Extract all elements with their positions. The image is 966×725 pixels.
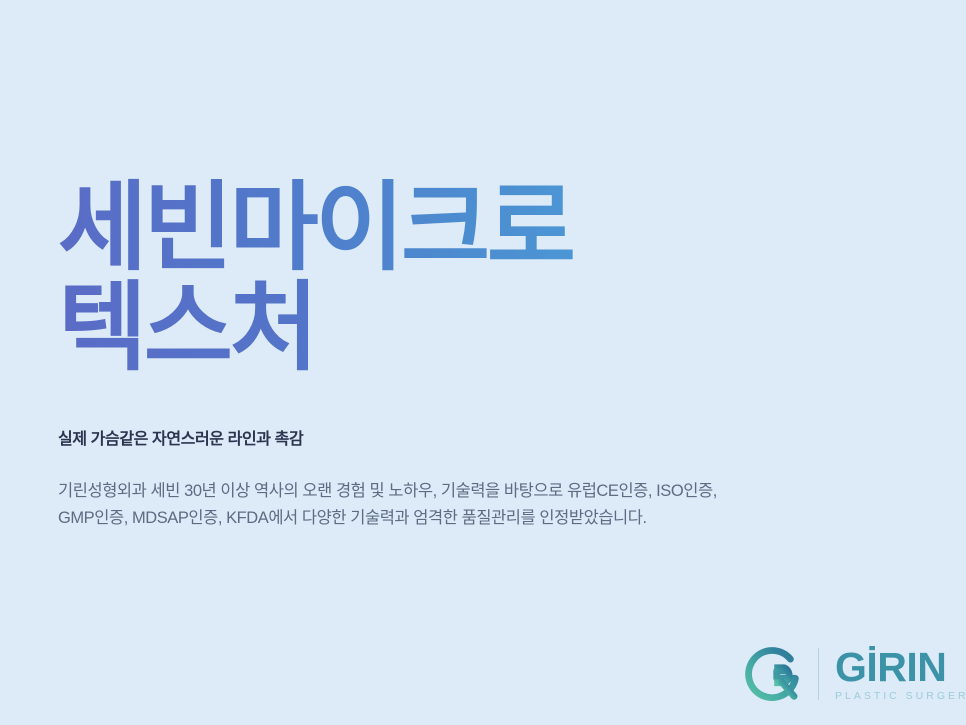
headline-line-1: 세빈마이크로 xyxy=(58,178,798,278)
headline: 세빈마이크로 텍스처 xyxy=(58,178,798,378)
logo-wordmark-group: GİRIN PLASTIC SURGERY xyxy=(835,647,966,702)
logo-divider xyxy=(818,648,819,700)
body-copy: 기린성형외과 세빈 30년 이상 역사의 오랜 경험 및 노하우, 기술력을 바… xyxy=(58,478,818,532)
subtitle: 실제 가슴같은 자연스러운 라인과 촉감 xyxy=(58,425,303,449)
brand-logo: GİRIN PLASTIC SURGERY xyxy=(742,641,966,707)
logo-wordmark: GİRIN xyxy=(835,647,966,687)
gr-monogram-icon xyxy=(742,643,804,705)
logo-tagline: PLASTIC SURGERY xyxy=(835,690,966,702)
headline-line-2: 텍스처 xyxy=(58,278,798,378)
promo-slide: 세빈마이크로 텍스처 실제 가슴같은 자연스러운 라인과 촉감 기린성형외과 세… xyxy=(0,0,966,725)
body-copy-line-1: 기린성형외과 세빈 30년 이상 역사의 오랜 경험 및 노하우, 기술력을 바… xyxy=(58,478,818,505)
body-copy-line-2: GMP인증, MDSAP인증, KFDA에서 다양한 기술력과 엄격한 품질관리… xyxy=(58,505,818,532)
